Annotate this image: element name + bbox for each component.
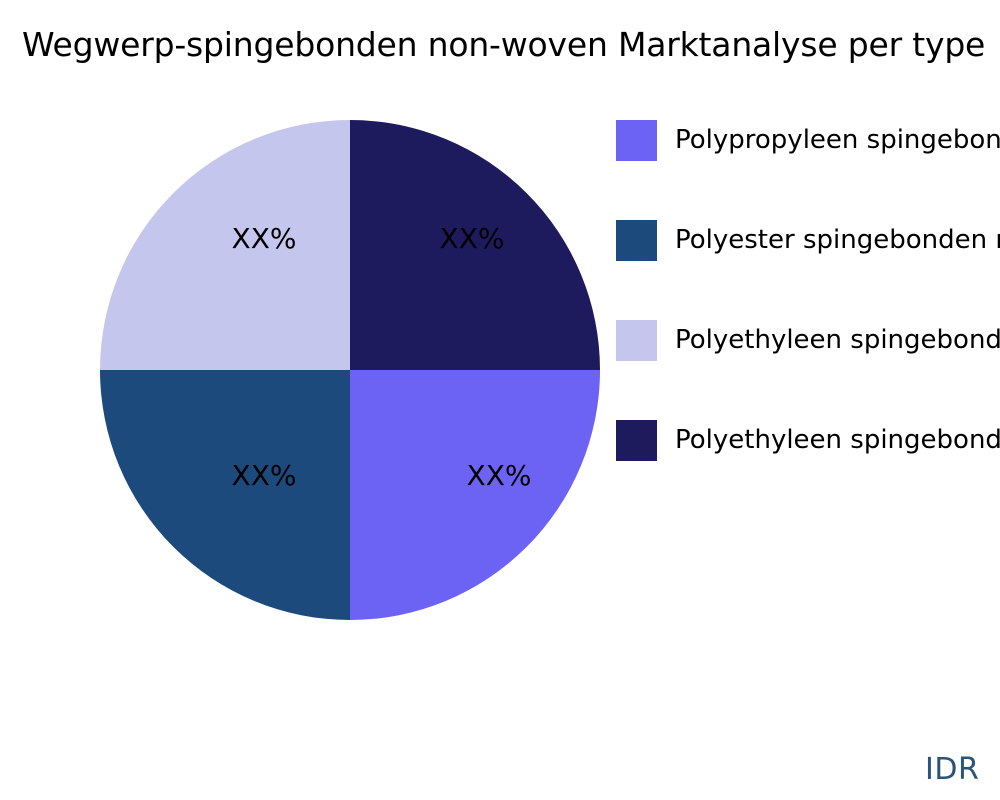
pie-label-bottom-right: XX% <box>467 459 532 492</box>
legend-item-polypropyleen[interactable]: Polypropyleen spingebonden non-woven <box>616 120 1000 220</box>
legend-item-polyester[interactable]: Polyester spingebonden non-woven <box>616 220 1000 320</box>
legend: Polypropyleen spingebonden non-woven Pol… <box>616 120 1000 520</box>
legend-swatch-icon <box>616 420 657 461</box>
watermark-label: IDR <box>925 752 979 787</box>
pie-slice-polyester[interactable] <box>100 370 350 620</box>
legend-swatch-icon <box>616 120 657 161</box>
legend-item-label: Polyethyleen spingebonden non-woven <box>675 318 1000 363</box>
legend-item-polyethyleen-dark[interactable]: Polyethyleen spingebonden non-woven <box>616 420 1000 520</box>
pie-chart: XX% XX% XX% XX% <box>100 120 600 620</box>
legend-swatch-icon <box>616 320 657 361</box>
legend-item-label: Polyester spingebonden non-woven <box>675 218 1000 263</box>
page-title: Wegwerp-spingebonden non-woven Marktanal… <box>22 22 1000 68</box>
pie-label-bottom-left: XX% <box>232 459 297 492</box>
pie-slice-polypropyleen[interactable] <box>350 370 600 620</box>
legend-item-polyethyleen-light[interactable]: Polyethyleen spingebonden non-woven <box>616 320 1000 420</box>
pie-label-top-right: XX% <box>440 222 505 255</box>
legend-item-label: Polyethyleen spingebonden non-woven <box>675 418 1000 463</box>
pie-label-top-left: XX% <box>232 222 297 255</box>
chart-canvas: Wegwerp-spingebonden non-woven Marktanal… <box>0 0 1000 800</box>
legend-item-label: Polypropyleen spingebonden non-woven <box>675 118 1000 163</box>
legend-swatch-icon <box>616 220 657 261</box>
pie-svg: XX% XX% XX% XX% <box>100 120 600 620</box>
pie-slice-polyethyleen-light[interactable] <box>100 120 350 370</box>
